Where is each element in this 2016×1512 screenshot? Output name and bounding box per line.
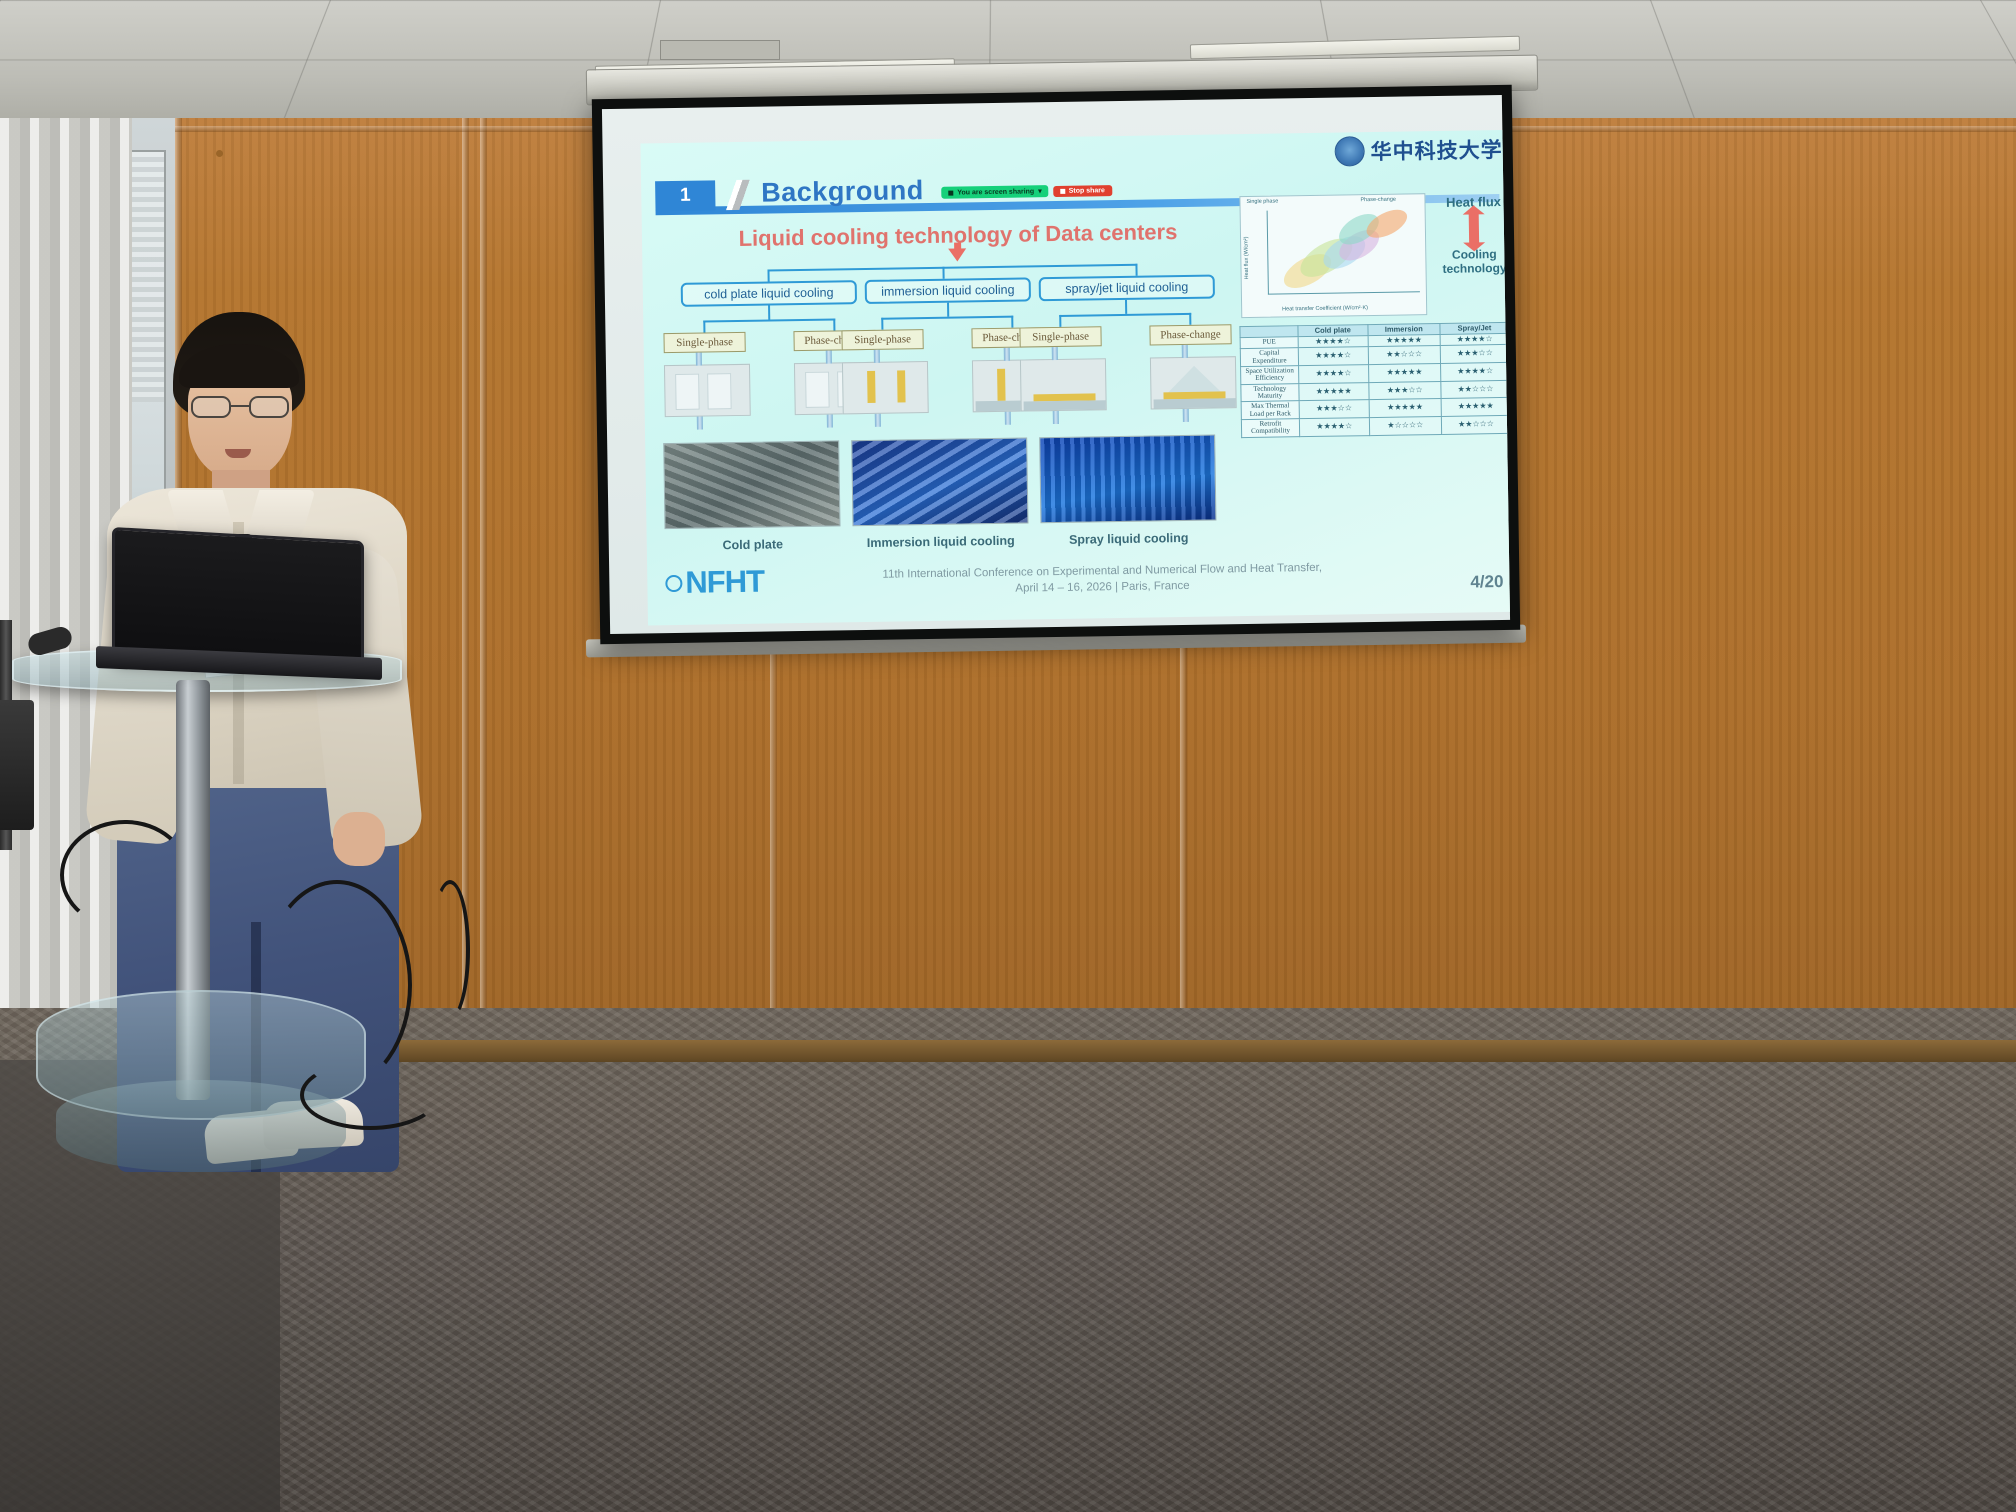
podium-cable [430, 880, 470, 1020]
chart-xlabel: Heat transfer Coefficient (W/cm²·K) [1282, 305, 1368, 312]
photo-caption-immersion: Immersion liquid cooling [843, 533, 1039, 550]
flow-line [1135, 264, 1137, 276]
pipe-icon [696, 353, 702, 366]
glasses [191, 396, 289, 418]
phase-box: Single-phase [663, 332, 745, 353]
flow-line [1059, 315, 1061, 327]
share-caret-icon[interactable]: ▾ [1038, 187, 1042, 195]
stop-share-label: Stop share [1069, 187, 1105, 195]
pipe-icon [827, 415, 833, 428]
floor-cable [60, 820, 190, 930]
flow-line [1125, 300, 1127, 314]
university-name-cn: 华中科技大学 [1370, 134, 1502, 166]
photo-cold-plate [663, 440, 840, 529]
rating-cold-plate: ★★★★★ [1299, 382, 1369, 401]
flow-line [881, 318, 883, 330]
row-label: Technology Maturity [1241, 383, 1299, 402]
nfht-mark-icon [665, 574, 682, 591]
share-indicator-icon [948, 190, 953, 195]
rating-immersion: ★☆☆☆☆ [1369, 416, 1442, 435]
header-slash-decoration [717, 180, 757, 211]
nfht-logo-text: NFHT [685, 564, 764, 601]
category-box-cold-plate: cold plate liquid cooling [681, 280, 857, 307]
projection-screen-surface: 华中科技大学 1 Background You are screen shari… [602, 95, 1510, 634]
pipe-icon [1004, 348, 1010, 361]
double-arrow-icon [1469, 213, 1479, 243]
rating-immersion: ★★★☆☆ [1368, 381, 1441, 400]
flow-line [947, 303, 949, 317]
rating-cold-plate: ★★★★☆ [1298, 347, 1368, 366]
heat-flux-annotation: Heat flux Cooling technology [1431, 194, 1510, 276]
pipe-icon [1005, 412, 1011, 425]
device-diagram-spray-phase [1150, 356, 1237, 409]
pipe-icon [697, 417, 703, 430]
row-label: Capital Expenditure [1240, 348, 1298, 367]
row-label: Max Thermal Load per Rack [1241, 401, 1299, 420]
table-row: Retrofit Compatibility ★★★★☆ ★☆☆☆☆ ★★☆☆☆ [1241, 415, 1510, 437]
flow-line [942, 267, 944, 279]
screen-sharing-status: You are screen sharing ▾ [941, 185, 1049, 199]
stop-share-button[interactable]: Stop share [1054, 185, 1112, 197]
slide-title: Background [761, 175, 924, 209]
category-box-immersion: immersion liquid cooling [865, 277, 1031, 304]
device-diagram-immersion-single [842, 361, 929, 414]
rating-spray-jet: ★★★☆☆ [1440, 345, 1509, 364]
university-logo: 华中科技大学 [1334, 134, 1502, 167]
category-box-spray-jet: spray/jet liquid cooling [1039, 274, 1215, 301]
flow-line [1189, 313, 1191, 325]
wall-baseboard [150, 1040, 2016, 1062]
phase-box: Phase-change [1149, 324, 1231, 345]
photo-caption-spray: Spray liquid cooling [1037, 530, 1221, 547]
rating-immersion: ★★☆☆☆ [1368, 346, 1441, 365]
flow-line [833, 318, 835, 330]
down-arrow-icon [948, 248, 966, 261]
wall-fixture-dot [216, 150, 223, 157]
chart-ylabel: Heat flux (W/cm²) [1243, 237, 1250, 280]
flow-line [1011, 316, 1013, 328]
device-diagram-spray-single [1020, 358, 1107, 411]
flow-line [881, 316, 1013, 320]
section-number: 1 [655, 180, 715, 211]
rating-immersion: ★★★★★ [1368, 363, 1441, 382]
hand-right [333, 812, 385, 866]
photo-spray [1039, 435, 1216, 524]
pipe-icon [1053, 411, 1059, 424]
chart-label-phase-change: Phase-change [1360, 197, 1396, 204]
lens-left [191, 396, 231, 418]
flow-line [1059, 313, 1191, 317]
heat-flux-vs-htc-chart: Single phase Phase-change Heat transfer … [1239, 193, 1427, 318]
pipe-icon [1182, 345, 1188, 358]
phase-box: Single-phase [1019, 326, 1101, 347]
photo-caption-cold-plate: Cold plate [665, 536, 841, 553]
pipe-icon [874, 350, 880, 363]
chart-label-single-phase: Single phase [1246, 198, 1278, 204]
row-label: Retrofit Compatibility [1241, 419, 1299, 438]
rating-immersion: ★★★★★ [1369, 399, 1442, 418]
rating-cold-plate: ★★★★☆ [1299, 365, 1369, 384]
wall-seam [480, 118, 487, 1078]
rating-spray-jet: ★★★★★ [1441, 398, 1510, 417]
pipe-icon [1052, 347, 1058, 360]
rating-spray-jet: ★★☆☆☆ [1441, 415, 1510, 434]
flow-line [767, 269, 769, 281]
projection-screen: 华中科技大学 1 Background You are screen shari… [592, 85, 1520, 644]
photo-immersion [851, 437, 1028, 526]
rating-cold-plate: ★★★☆☆ [1299, 400, 1369, 419]
phase-box: Single-phase [841, 329, 923, 350]
glasses-bridge [231, 405, 249, 407]
rating-cold-plate: ★★★★☆ [1299, 418, 1369, 437]
conference-room-photo: 华中科技大学 1 Background You are screen shari… [0, 0, 2016, 1512]
nfht-logo: NFHT [665, 564, 764, 602]
ceiling-vent [660, 40, 780, 60]
row-label: PUE [1240, 337, 1298, 349]
pipe-icon [875, 414, 881, 427]
stop-icon [1061, 188, 1066, 193]
flow-line [767, 264, 1137, 272]
pipe-icon [826, 351, 832, 364]
device-diagram-coldplate-single [664, 364, 751, 417]
slide-page-number: 4/20 [1470, 572, 1503, 593]
rating-spray-jet: ★★☆☆☆ [1441, 380, 1510, 399]
floor-cable [262, 880, 412, 1090]
row-label: Space Utilization Efficiency [1241, 366, 1299, 385]
rating-spray-jet: ★★★★☆ [1441, 362, 1510, 381]
slide-footer: NFHT 11th International Conference on Ex… [647, 554, 1510, 620]
equipment-box [0, 700, 34, 830]
lens-right [249, 396, 289, 418]
sharing-label: You are screen sharing [957, 188, 1034, 196]
pipe-icon [1183, 409, 1189, 422]
flow-line [703, 318, 835, 322]
university-seal-icon [1334, 136, 1364, 166]
floor-cable [300, 1060, 440, 1130]
presentation-slide: 华中科技大学 1 Background You are screen shari… [640, 130, 1510, 626]
conference-info: 11th International Conference on Experim… [802, 558, 1402, 601]
comparison-table: Cold plate Immersion Spray/Jet PUE ★★★★☆… [1239, 322, 1510, 438]
flow-line [703, 321, 705, 333]
flow-line [768, 305, 770, 319]
